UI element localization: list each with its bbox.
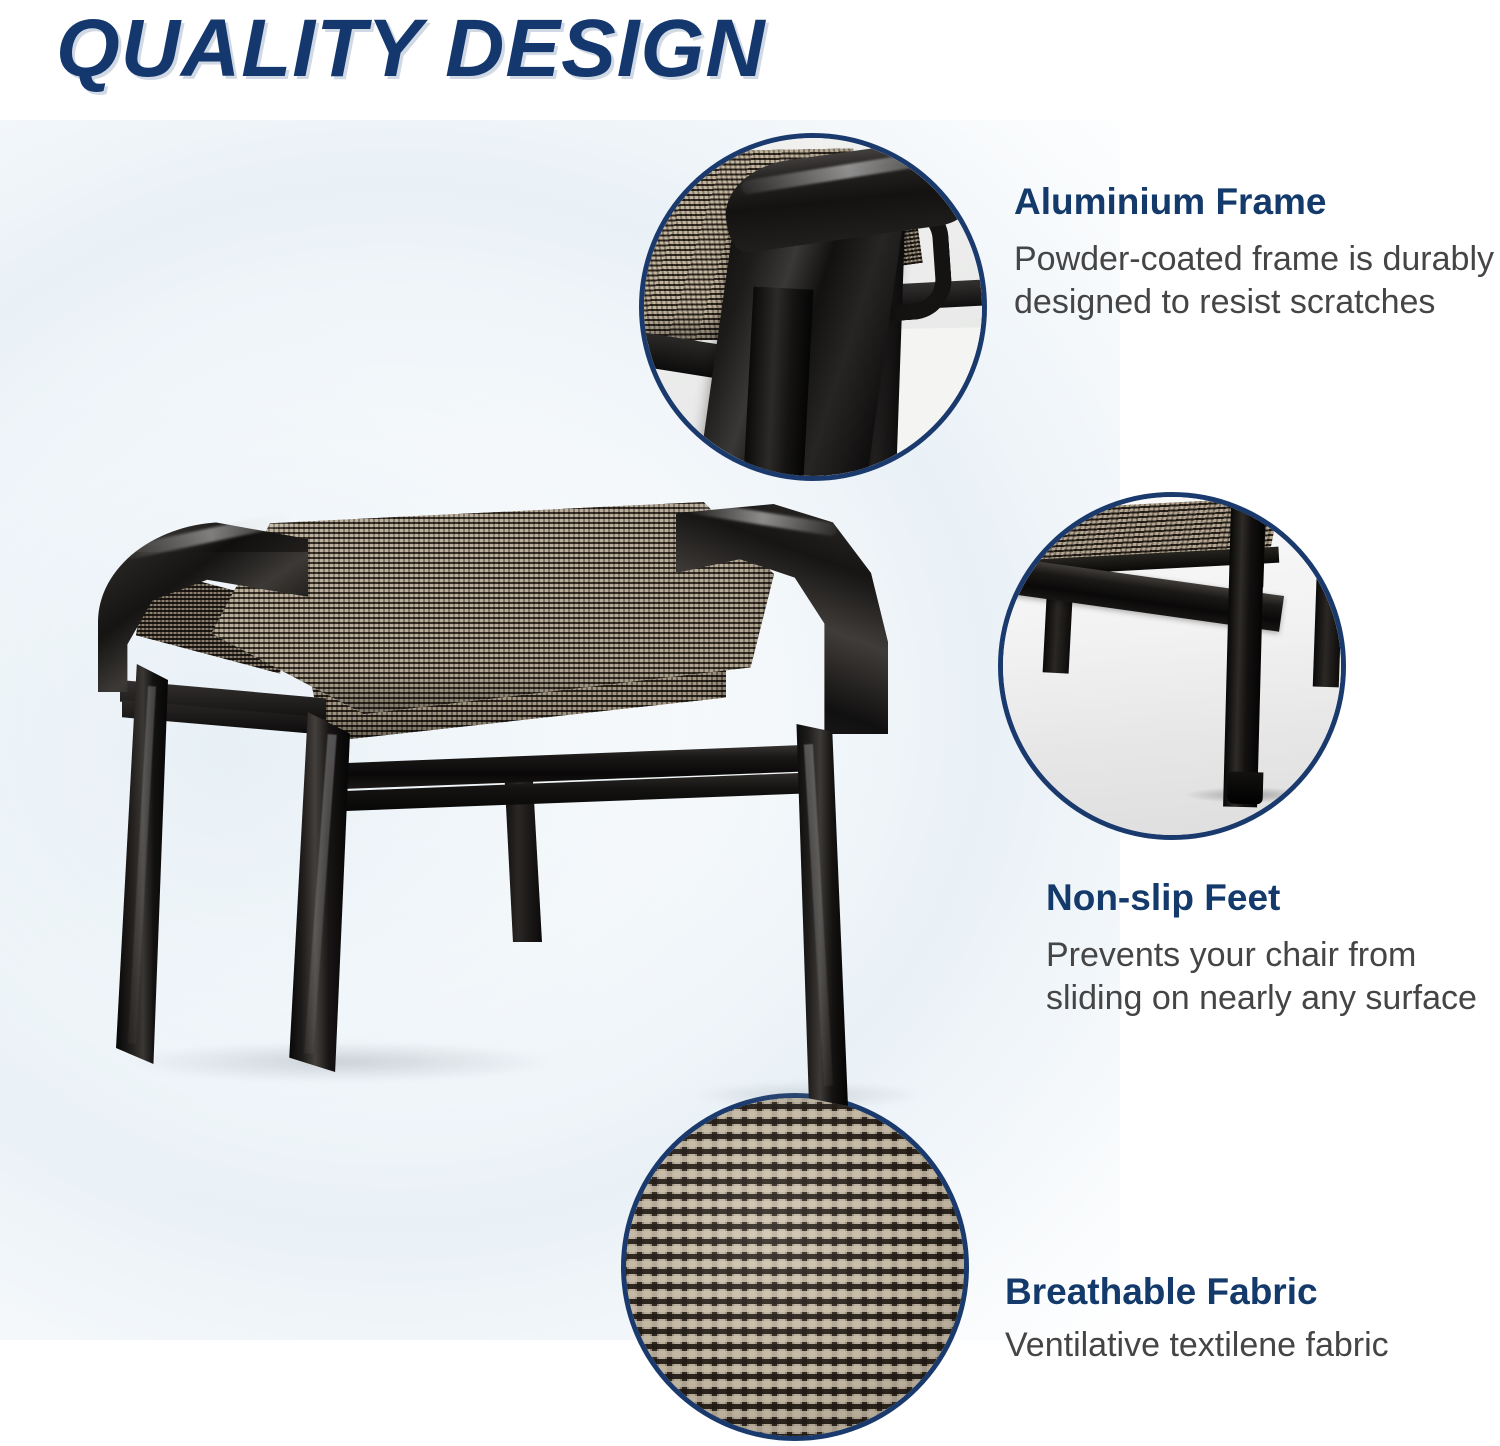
infographic-canvas: QUALITY DESIGN [0, 0, 1500, 1446]
product-shadow-right [692, 1082, 922, 1108]
feature-title-aluminium-frame: Aluminium Frame [1014, 182, 1500, 222]
page-title: QUALITY DESIGN [56, 2, 766, 96]
feet-closeup-image [1003, 497, 1341, 835]
callout-circle-breathable-fabric [621, 1093, 969, 1441]
feature-body-breathable-fabric: Ventilative textilene fabric [1005, 1324, 1500, 1367]
feature-body-non-slip-feet: Prevents your chair from sliding on near… [1046, 934, 1500, 1020]
fabric-closeup-image [626, 1098, 964, 1436]
frame-closeup-image [644, 138, 982, 476]
feature-title-breathable-fabric: Breathable Fabric [1005, 1272, 1500, 1312]
feature-block-aluminium-frame: Aluminium Frame Powder-coated frame is d… [1014, 182, 1500, 324]
product-image-ottoman [92, 486, 882, 1106]
callout-circle-aluminium-frame [639, 133, 987, 481]
product-shadow [132, 1042, 552, 1082]
feature-title-non-slip-feet: Non-slip Feet [1046, 878, 1500, 918]
frame-rail-right [676, 504, 888, 754]
frame-rail-left [98, 522, 308, 782]
feature-block-non-slip-feet: Non-slip Feet Prevents your chair from s… [1046, 878, 1500, 1020]
feature-body-aluminium-frame: Powder-coated frame is durably designed … [1014, 238, 1500, 324]
feature-block-breathable-fabric: Breathable Fabric Ventilative textilene … [1005, 1272, 1500, 1367]
callout-circle-non-slip-feet [998, 492, 1346, 840]
